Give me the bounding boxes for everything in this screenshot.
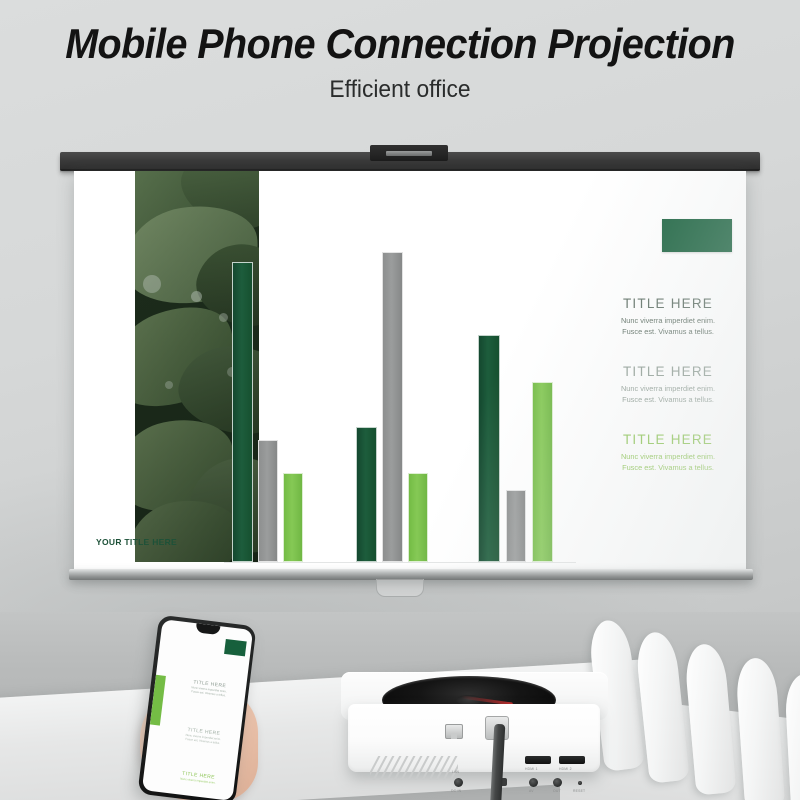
text-block-2: TITLE HERE Nunc viverra imperdiet enim. …: [598, 364, 738, 406]
phone-text-block-1: TITLE HERE Nunc viverra imperdiet enim. …: [178, 678, 241, 700]
page-subtitle: Efficient office: [20, 76, 780, 104]
chair: [735, 657, 785, 800]
text-block-title: TITLE HERE: [598, 296, 738, 311]
projector-device[interactable]: LAN DC IN USB HDMI 1 HDMI 2 AV OUT RESET: [341, 672, 608, 782]
text-block-line1: Nunc viverra imperdiet enim.: [598, 383, 738, 394]
slide-accent-box: [662, 219, 732, 252]
text-block-line2: Fusce est. Vivamus a tellus.: [598, 462, 738, 473]
text-block-line1: Nunc viverra imperdiet enim.: [598, 315, 738, 326]
bar-gray: [506, 490, 526, 562]
vent-grille: [370, 756, 458, 780]
text-block-line2: Fusce est. Vivamus a tellus.: [598, 394, 738, 405]
mobile-phone[interactable]: TITLE HERE Nunc viverra imperdiet enim. …: [137, 615, 256, 800]
bar-gray: [258, 440, 278, 562]
bar-light-green: [532, 382, 553, 562]
bar-light-green: [283, 473, 303, 562]
av-port[interactable]: [529, 778, 538, 787]
text-block-line2: Fusce est. Vivamus a tellus.: [598, 326, 738, 337]
slide-footer-title: YOUR TITLE HERE: [96, 537, 177, 547]
lan-port[interactable]: [445, 724, 463, 739]
slide-text-blocks: TITLE HERE Nunc viverra imperdiet enim. …: [598, 296, 738, 500]
out-port-label: OUT: [553, 789, 561, 793]
bar-dark-green: [232, 262, 253, 562]
out-port[interactable]: [553, 778, 562, 787]
phone-text-block-2: TITLE HERE Nunc viverra imperdiet enim. …: [172, 725, 235, 747]
text-block-3: TITLE HERE Nunc viverra imperdiet enim. …: [598, 432, 738, 474]
chair: [684, 643, 737, 796]
projector-body: LAN DC IN USB HDMI 1 HDMI 2 AV OUT RESET: [348, 704, 600, 772]
bar-dark-green: [478, 335, 500, 562]
chart-baseline: [224, 562, 576, 563]
screen-wall-mount: [370, 145, 448, 161]
hdmi-1-port-label: HDMI 1: [525, 767, 538, 771]
reset-port[interactable]: [578, 781, 582, 785]
lan-port-label: LAN: [452, 770, 459, 774]
text-block-1: TITLE HERE Nunc viverra imperdiet enim. …: [598, 296, 738, 338]
phone-screen[interactable]: TITLE HERE Nunc viverra imperdiet enim. …: [141, 619, 252, 800]
phone-text-block-3: TITLE HERE Nunc viverra imperdiet enim.: [167, 769, 230, 787]
page-title: Mobile Phone Connection Projection: [24, 22, 776, 67]
phone-accent-box: [224, 639, 247, 656]
hdmi-2-port[interactable]: [559, 756, 585, 764]
chair-group: [596, 614, 800, 800]
chair: [784, 673, 800, 800]
screen-canvas: TITLE HERE Nunc viverra imperdiet enim. …: [74, 171, 746, 571]
hdmi-1-port[interactable]: [525, 756, 551, 764]
hdmi-2-port-label: HDMI 2: [559, 767, 572, 771]
reset-port-label: RESET: [573, 789, 585, 793]
text-block-title: TITLE HERE: [598, 432, 738, 447]
phone-side-bar: [149, 675, 165, 726]
screen-pull-handle[interactable]: [376, 579, 424, 597]
dc-in-port-label: DC IN: [451, 789, 461, 793]
text-block-line1: Nunc viverra imperdiet enim.: [598, 451, 738, 462]
page-header: Mobile Phone Connection Projection Effic…: [0, 22, 800, 104]
av-port-label: AV: [529, 789, 534, 793]
bar-chart: [224, 231, 584, 563]
projection-screen: TITLE HERE Nunc viverra imperdiet enim. …: [60, 152, 760, 600]
bar-light-green: [408, 473, 428, 562]
scene: TITLE HERE Nunc viverra imperdiet enim. …: [0, 0, 800, 800]
phone-notch: [195, 623, 220, 635]
bar-dark-green: [356, 427, 377, 562]
screen-casing: [60, 152, 760, 171]
bar-gray: [382, 252, 403, 562]
text-block-title: TITLE HERE: [598, 364, 738, 379]
dc-in-port[interactable]: [454, 778, 463, 787]
